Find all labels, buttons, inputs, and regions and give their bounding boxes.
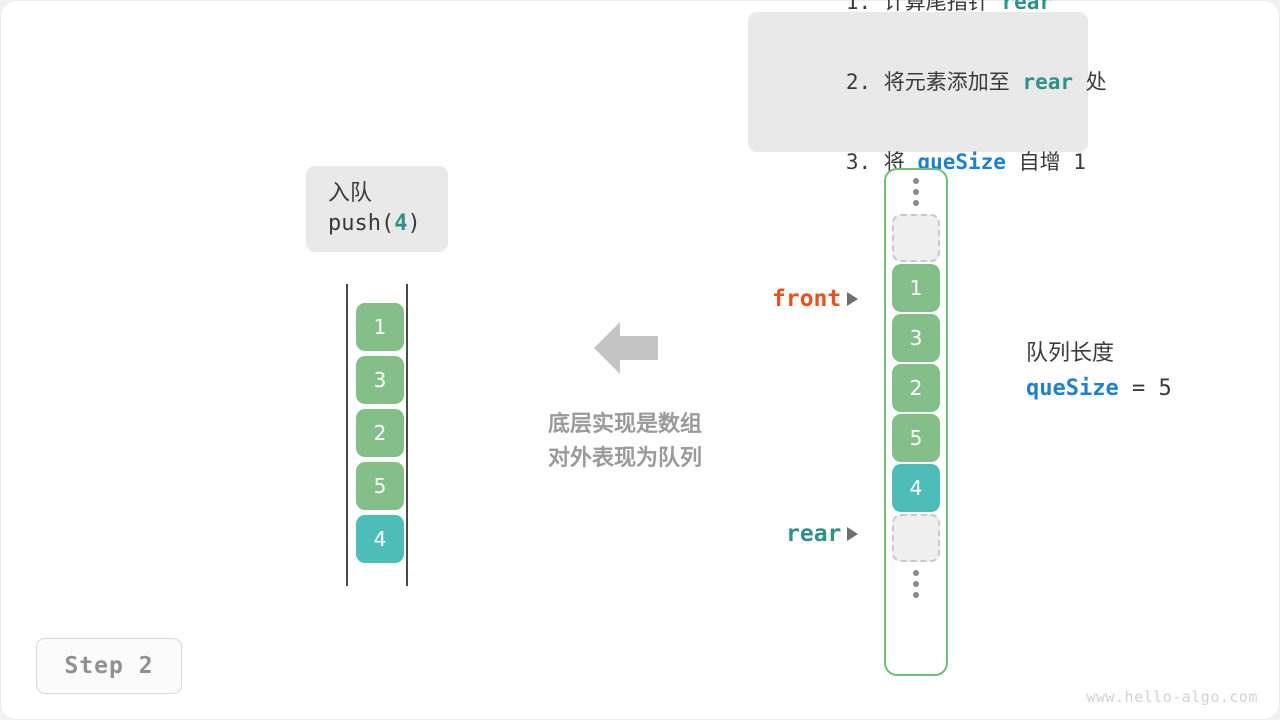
- array-cell-empty: [892, 514, 940, 562]
- diagram-canvas: 1. 计算尾指针 rear 2. 将元素添加至 rear 处 3. 将 queS…: [0, 0, 1280, 720]
- array-cell: 2: [892, 364, 940, 412]
- queue-size-title: 队列长度: [1026, 340, 1172, 368]
- steps-callout-box: 1. 计算尾指针 rear 2. 将元素添加至 rear 处 3. 将 queS…: [748, 12, 1088, 152]
- array-cell-empty: [892, 214, 940, 262]
- step-3-suffix: 自增 1: [1006, 150, 1086, 174]
- quesize-equals: =: [1119, 376, 1159, 401]
- left-queue-cells: 13254: [356, 303, 404, 563]
- step-line-1: 1. 计算尾指针 rear: [770, 0, 1066, 38]
- push-code-suffix: ): [407, 211, 420, 236]
- step-line-2: 2. 将元素添加至 rear 处: [770, 46, 1066, 118]
- queue-size-expression: queSize = 5: [1026, 376, 1172, 401]
- left-queue-cell: 4: [356, 515, 404, 563]
- right-rail: [406, 284, 408, 586]
- front-arrow-icon: [847, 292, 858, 306]
- left-queue-cell: 5: [356, 462, 404, 510]
- middle-caption: 底层实现是数组 对外表现为队列: [520, 408, 730, 476]
- left-queue-cell: 1: [356, 303, 404, 351]
- push-box-title: 入队: [328, 182, 448, 206]
- quesize-var: queSize: [1026, 376, 1119, 401]
- left-rail: [346, 284, 348, 586]
- step-2-suffix: 处: [1073, 70, 1107, 94]
- left-queue-column: 13254: [340, 284, 414, 586]
- array-cell: 1: [892, 264, 940, 312]
- push-code-value: 4: [394, 211, 407, 236]
- step-badge: Step 2: [36, 638, 182, 694]
- push-box-code: push(4): [328, 212, 448, 236]
- array-container: 13254: [884, 168, 948, 676]
- left-queue-cell: 3: [356, 356, 404, 404]
- caption-line-2: 对外表现为队列: [520, 442, 730, 476]
- watermark: www.hello-algo.com: [1086, 688, 1258, 706]
- vertical-ellipsis-top-icon: [913, 170, 919, 214]
- rear-pointer-label: rear: [786, 521, 858, 547]
- vertical-ellipsis-bottom-icon: [913, 562, 919, 606]
- step-1-keyword: rear: [1001, 0, 1052, 14]
- caption-line-1: 底层实现是数组: [520, 408, 730, 442]
- rear-arrow-icon: [847, 527, 858, 541]
- queue-size-note: 队列长度 queSize = 5: [1026, 340, 1172, 401]
- push-code-prefix: push(: [328, 211, 394, 236]
- push-operation-box: 入队 push(4): [306, 166, 448, 252]
- array-cell: 5: [892, 414, 940, 462]
- left-queue-cell: 2: [356, 409, 404, 457]
- step-2-keyword: rear: [1022, 70, 1073, 94]
- step-2-prefix: 2. 将元素添加至: [846, 70, 1023, 94]
- rear-pointer-text: rear: [786, 521, 841, 547]
- array-cells: 13254: [892, 214, 940, 562]
- quesize-value: 5: [1158, 376, 1171, 401]
- left-arrow-icon: [594, 322, 658, 374]
- front-pointer-label: front: [772, 286, 858, 312]
- array-cell: 4: [892, 464, 940, 512]
- step-1-prefix: 1. 计算尾指针: [846, 0, 1002, 14]
- array-cell: 3: [892, 314, 940, 362]
- front-pointer-text: front: [772, 286, 841, 312]
